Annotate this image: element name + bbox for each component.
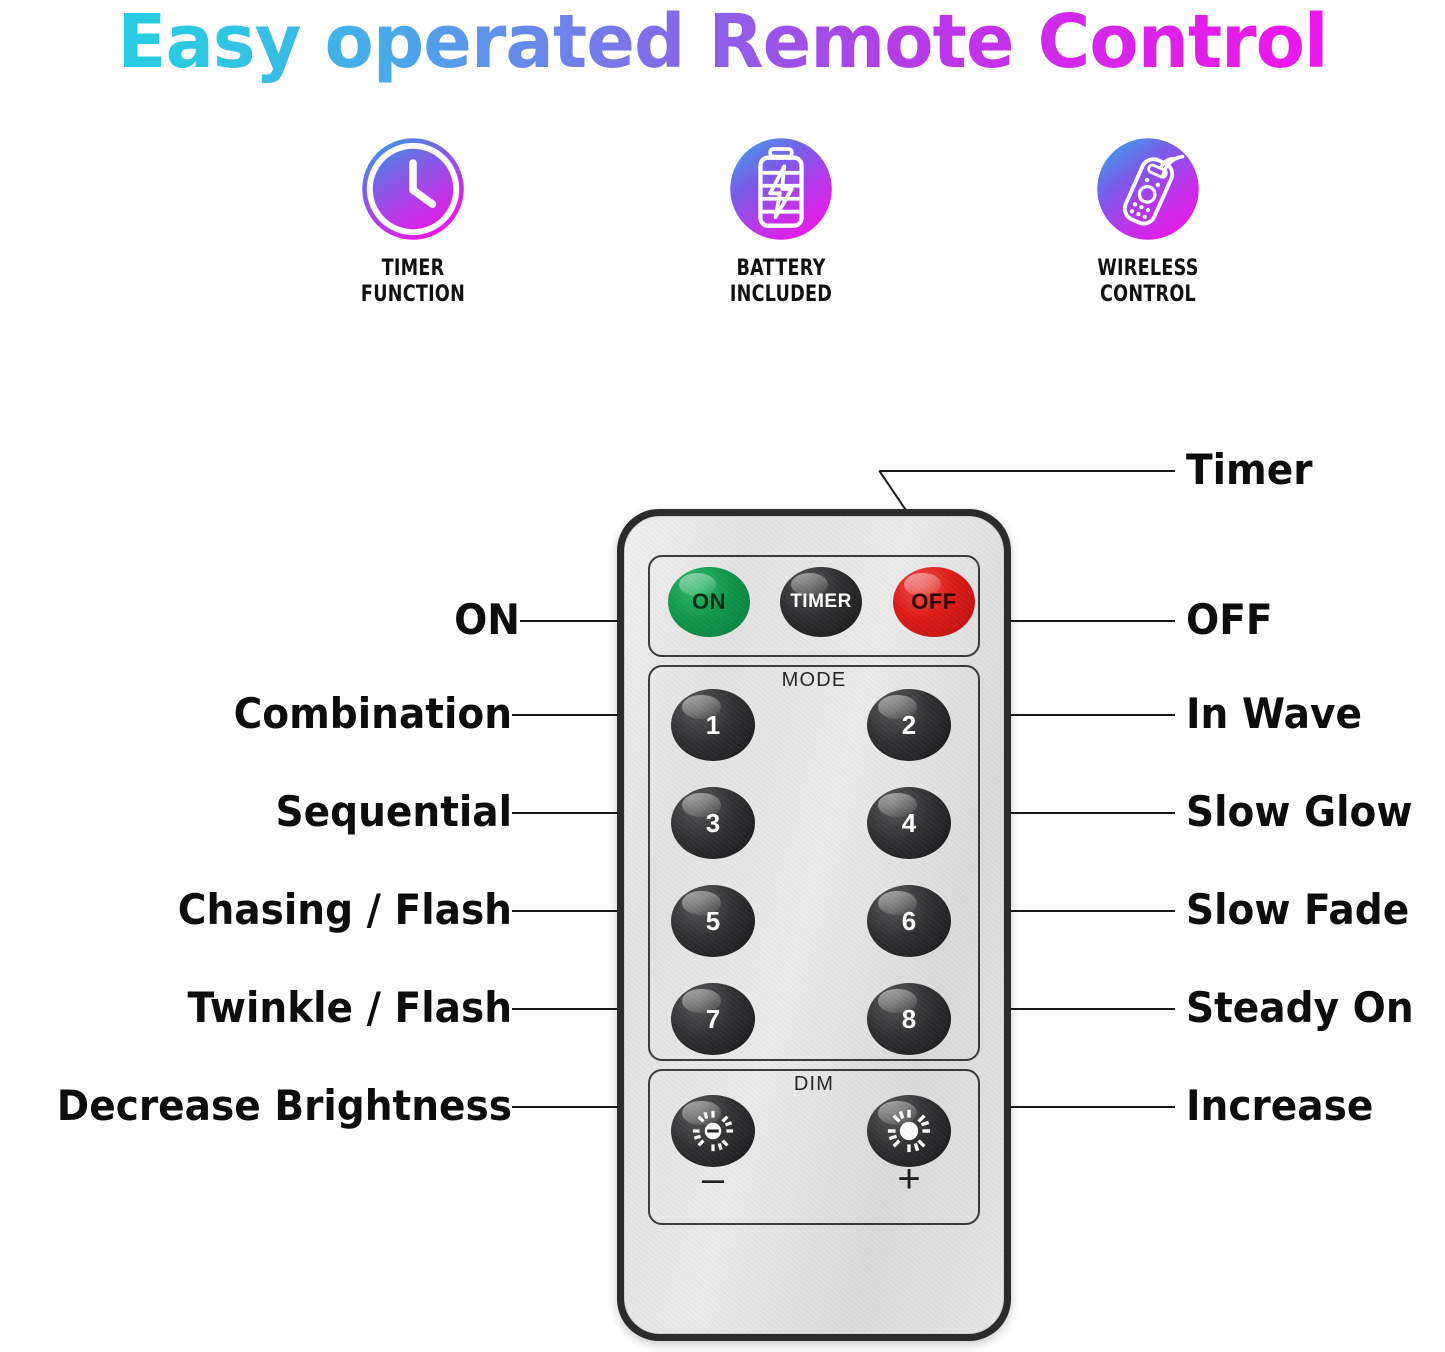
- increase-sign: +: [867, 1165, 951, 1193]
- mode-caption: MODE: [625, 669, 1003, 692]
- feature-timer-function: TIMER FUNCTION: [293, 135, 533, 308]
- button-mode-6[interactable]: 6: [867, 885, 951, 957]
- infographic-page: Easy operated Remote Control TIMER FUNCT…: [0, 0, 1445, 1352]
- feature-wireless-control: WIRELESS CONTROL: [1028, 135, 1268, 308]
- button-on-label: ON: [692, 589, 726, 615]
- button-mode-7[interactable]: 7: [671, 983, 755, 1055]
- button-mode-4[interactable]: 4: [867, 787, 951, 859]
- callout-twinkle-flash: Twinkle / Flash: [112, 984, 512, 1032]
- button-off[interactable]: OFF: [893, 567, 975, 637]
- feature-label: TIMER FUNCTION: [317, 256, 509, 308]
- callout-in-wave: In Wave: [1186, 690, 1362, 738]
- button-mode-2[interactable]: 2: [867, 689, 951, 761]
- remote-faceplate: MODE DIM ON TIMER OFF 1 2 3 4 5 6: [624, 516, 1004, 1334]
- feature-label: BATTERY INCLUDED: [685, 256, 877, 308]
- callout-slow-fade: Slow Fade: [1186, 886, 1409, 934]
- button-mode-1[interactable]: 1: [671, 689, 755, 761]
- callout-steady-on: Steady On: [1186, 984, 1414, 1032]
- callout-combination: Combination: [140, 690, 512, 738]
- callout-increase: Increase: [1186, 1082, 1373, 1130]
- dim-caption: DIM: [625, 1073, 1003, 1096]
- callout-off: OFF: [1186, 596, 1273, 644]
- feature-label: WIRELESS CONTROL: [1052, 256, 1244, 308]
- button-timer-label: TIMER: [790, 591, 852, 613]
- button-mode-5[interactable]: 5: [671, 885, 755, 957]
- remote-control: MODE DIM ON TIMER OFF 1 2 3 4 5 6: [617, 509, 1011, 1341]
- leader-line-timer-horizontal: [880, 470, 1175, 472]
- button-mode-8[interactable]: 8: [867, 983, 951, 1055]
- button-mode-3[interactable]: 3: [671, 787, 755, 859]
- callout-decrease-brightness: Decrease Brightness: [38, 1082, 512, 1130]
- callout-timer: Timer: [1186, 446, 1312, 494]
- clock-icon: [359, 135, 467, 243]
- button-on[interactable]: ON: [668, 567, 750, 637]
- decrease-sign: –: [671, 1165, 755, 1193]
- callout-chasing-flash: Chasing / Flash: [112, 886, 512, 934]
- page-title: Easy operated Remote Control: [22, 0, 1424, 86]
- button-off-label: OFF: [911, 589, 957, 615]
- remote-signal-icon: [1094, 135, 1202, 243]
- feature-battery-included: BATTERY INCLUDED: [661, 135, 901, 308]
- callout-sequential: Sequential: [140, 788, 512, 836]
- button-timer[interactable]: TIMER: [780, 567, 862, 637]
- battery-icon: [727, 135, 835, 243]
- brightness-high-icon: [886, 1108, 932, 1154]
- callout-slow-glow: Slow Glow: [1186, 788, 1412, 836]
- callout-on: ON: [157, 596, 520, 644]
- brightness-low-icon: [690, 1108, 736, 1154]
